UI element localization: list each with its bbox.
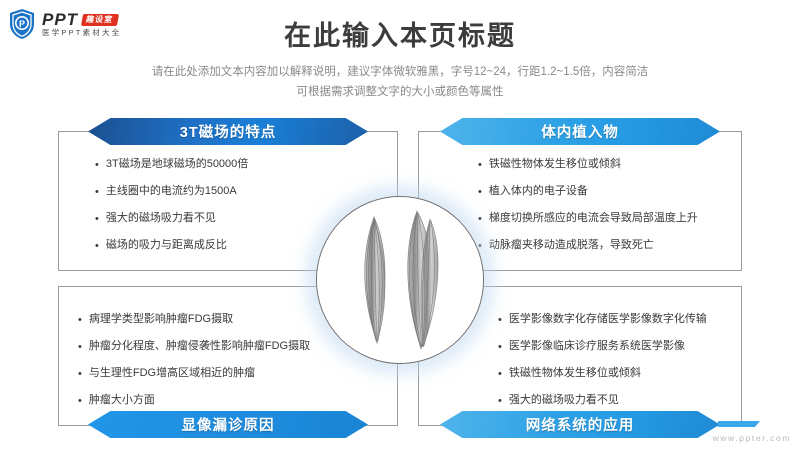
list-item-label: 肿瘤大小方面: [89, 395, 155, 406]
bullet-icon: •: [78, 341, 82, 353]
list-item-label: 肿瘤分化程度、肿瘤侵袭性影响肿瘤FDG摄取: [89, 341, 310, 352]
bullet-icon: •: [478, 186, 482, 198]
page-title: 在此输入本页标题: [0, 14, 800, 53]
bullet-icon: •: [95, 213, 99, 225]
bullet-list-bottom-left: •病理学类型影响肿瘤FDG摄取 •肿瘤分化程度、肿瘤侵袭性影响肿瘤FDG摄取 •…: [78, 314, 310, 407]
list-item: •铁磁性物体发生移位或倾斜: [478, 159, 698, 171]
list-item-label: 铁磁性物体发生移位或倾斜: [509, 368, 641, 379]
banner-bottom-left[interactable]: 显像漏诊原因: [88, 411, 368, 438]
bullet-icon: •: [478, 213, 482, 225]
bullet-icon: •: [95, 240, 99, 252]
banner-top-left[interactable]: 3T磁场的特点: [88, 118, 368, 145]
bullet-icon: •: [78, 368, 82, 380]
list-item-label: 与生理性FDG增高区域相近的肿瘤: [89, 368, 255, 379]
list-item: •医学影像临床诊疗服务系统医学影像: [498, 341, 707, 353]
page-subtitle-line-1: 请在此处添加文本内容加以解释说明，建议字体微软雅黑，字号12~24，行距1.2~…: [0, 62, 800, 82]
bullet-icon: •: [498, 314, 502, 326]
banner-top-right[interactable]: 体内植入物: [440, 118, 720, 145]
bullet-icon: •: [498, 368, 502, 380]
bullet-icon: •: [95, 186, 99, 198]
page-subtitle-line-2: 可根据需求调整文字的大小或颜色等属性: [0, 82, 800, 102]
bullet-icon: •: [478, 159, 482, 171]
list-item: •肿瘤大小方面: [78, 395, 310, 407]
list-item-label: 磁场的吸力与距离成反比: [106, 240, 227, 251]
list-item-label: 动脉瘤夹移动造成脱落，导致死亡: [489, 240, 654, 251]
list-item: •强大的磁场吸力看不见: [498, 395, 707, 407]
watermark-text: www.ppter.com: [713, 433, 791, 443]
watermark-bar-icon: [718, 421, 760, 427]
bullet-icon: •: [95, 159, 99, 171]
banner-bottom-right[interactable]: 网络系统的应用: [440, 411, 720, 438]
list-item: •强大的磁场吸力看不见: [95, 213, 248, 225]
muscle-fiber-illustration: [316, 196, 484, 364]
list-item: •植入体内的电子设备: [478, 186, 698, 198]
bullet-icon: •: [78, 395, 82, 407]
list-item-label: 强大的磁场吸力看不见: [106, 213, 216, 224]
list-item-label: 植入体内的电子设备: [489, 186, 588, 197]
list-item: •动脉瘤夹移动造成脱落，导致死亡: [478, 240, 698, 252]
page-subtitle: 请在此处添加文本内容加以解释说明，建议字体微软雅黑，字号12~24，行距1.2~…: [0, 62, 800, 102]
bullet-list-bottom-right: •医学影像数字化存储医学影像数字化传输 •医学影像临床诊疗服务系统医学影像 •铁…: [498, 314, 707, 407]
list-item: •医学影像数字化存储医学影像数字化传输: [498, 314, 707, 326]
list-item-label: 医学影像数字化存储医学影像数字化传输: [509, 314, 707, 325]
list-item-label: 主线圈中的电流约为1500A: [106, 186, 237, 197]
list-item: •铁磁性物体发生移位或倾斜: [498, 368, 707, 380]
list-item: •病理学类型影响肿瘤FDG摄取: [78, 314, 310, 326]
bullet-list-top-right: •铁磁性物体发生移位或倾斜 •植入体内的电子设备 •梯度切换所感应的电流会导致局…: [478, 159, 698, 252]
bullet-list-top-left: •3T磁场是地球磁场的50000倍 •主线圈中的电流约为1500A •强大的磁场…: [95, 159, 248, 252]
bullet-icon: •: [78, 314, 82, 326]
list-item: •与生理性FDG增高区域相近的肿瘤: [78, 368, 310, 380]
bullet-icon: •: [498, 395, 502, 407]
list-item: •主线圈中的电流约为1500A: [95, 186, 248, 198]
list-item-label: 3T磁场是地球磁场的50000倍: [106, 159, 248, 170]
list-item-label: 病理学类型影响肿瘤FDG摄取: [89, 314, 233, 325]
list-item: •3T磁场是地球磁场的50000倍: [95, 159, 248, 171]
list-item-label: 强大的磁场吸力看不见: [509, 395, 619, 406]
list-item-label: 铁磁性物体发生移位或倾斜: [489, 159, 621, 170]
list-item: •肿瘤分化程度、肿瘤侵袭性影响肿瘤FDG摄取: [78, 341, 310, 353]
bullet-icon: •: [498, 341, 502, 353]
list-item: •梯度切换所感应的电流会导致局部温度上升: [478, 213, 698, 225]
list-item: •磁场的吸力与距离成反比: [95, 240, 248, 252]
list-item-label: 医学影像临床诊疗服务系统医学影像: [509, 341, 685, 352]
list-item-label: 梯度切换所感应的电流会导致局部温度上升: [489, 213, 698, 224]
